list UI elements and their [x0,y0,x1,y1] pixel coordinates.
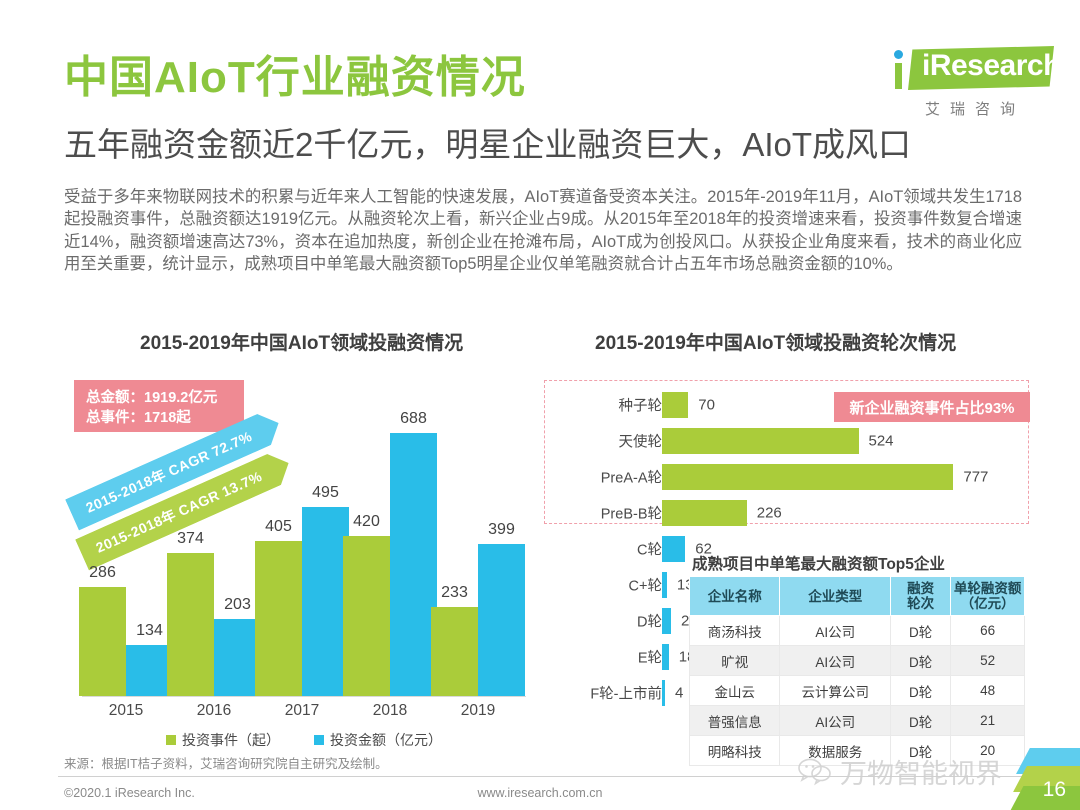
right-chart-title: 2015-2019年中国AIoT领域投融资轮次情况 [595,328,956,355]
round-label-D轮: D轮 [637,611,662,632]
bar-value-label: 399 [488,521,515,539]
legend-swatch-blue-icon [314,735,324,745]
legend-label-events: 投资事件（起） [182,730,280,750]
right-panel: 新企业融资事件占比93% 种子轮70天使轮524PreA-A轮777PreB-B… [534,366,1034,746]
x-axis-label-2017: 2017 [285,702,319,720]
table-col-header: 企业类型 [780,577,891,616]
x-axis-label-2016: 2016 [197,702,231,720]
bar-2019-amount: 399 [478,544,525,696]
legend-label-amount: 投资金额（亿元） [330,730,442,750]
round-label-E轮: E轮 [638,647,662,668]
logo-stem-icon [895,63,902,89]
bar-value-label: 688 [400,410,427,428]
round-label-F轮-上市前: F轮-上市前 [590,683,662,704]
table-col-header: 企业名称 [690,577,780,616]
round-value-F轮-上市前: 4 [675,685,683,702]
table-cell: 旷视 [690,646,780,676]
table-cell: D轮 [890,616,950,646]
bar-value-label: 405 [265,518,292,536]
total-amount-line: 总金额：1919.2亿元 [86,388,244,408]
table-cell: 云计算公司 [780,676,891,706]
page-number: 16 [1043,778,1066,802]
left-bar-chart: 总金额：1919.2亿元 总事件：1718起 2015-2018年 CAGR 7… [64,366,534,746]
logo-wordmark: iResearch [922,49,1061,83]
table-header-row: 企业名称企业类型融资轮次单轮融资额（亿元） [690,577,1025,616]
round-bar-C+轮 [662,572,667,598]
bar-value-label: 420 [353,513,380,531]
table-row: 旷视AI公司D轮52 [690,646,1025,676]
table-col-header: 单轮融资额（亿元） [951,577,1025,616]
legend-swatch-green-icon [166,735,176,745]
table-cell: 21 [951,706,1025,736]
table-cell: D轮 [890,706,950,736]
round-value-种子轮: 70 [698,397,715,414]
bar-value-label: 134 [136,622,163,640]
round-label-PreA-A轮: PreA-A轮 [601,467,662,488]
top5-table-head: 企业名称企业类型融资轮次单轮融资额（亿元） [690,577,1025,616]
wechat-icon [798,758,832,786]
bar-2015-events: 286 [79,587,126,696]
bar-2018-events: 420 [343,536,390,696]
left-chart-title: 2015-2019年中国AIoT领域投融资情况 [140,328,463,355]
bar-group: 233399 [431,544,525,696]
bar-value-label: 203 [224,596,251,614]
logo-mark: iResearch [886,44,1054,92]
bar-group: 405495 [255,507,349,696]
table-cell: 66 [951,616,1025,646]
table-cell: AI公司 [780,616,891,646]
table-cell: AI公司 [780,706,891,736]
table-row: 普强信息AI公司D轮21 [690,706,1025,736]
round-label-种子轮: 种子轮 [619,395,663,416]
round-bar-E轮 [662,644,669,670]
table-cell: 48 [951,676,1025,706]
x-axis-label-2019: 2019 [461,702,495,720]
top5-table-title: 成熟项目中单笔最大融资额Top5企业 [692,552,945,574]
bar-value-label: 233 [441,584,468,602]
bar-2017-amount: 495 [302,507,349,696]
table-cell: D轮 [890,646,950,676]
round-bar-天使轮 [662,428,859,454]
round-bar-D轮 [662,608,671,634]
legend-item-amount: 投资金额（亿元） [314,730,442,750]
round-label-天使轮: 天使轮 [619,431,663,452]
round-label-PreB-B轮: PreB-B轮 [601,503,662,524]
round-value-PreA-A轮: 777 [963,469,988,486]
round-label-C轮: C轮 [637,539,662,560]
bar-2016-events: 374 [167,553,214,696]
bar-value-label: 286 [89,564,116,582]
logo-chinese-name: 艾瑞咨询 [886,98,1054,119]
round-value-PreB-B轮: 226 [757,505,782,522]
x-axis-label-2018: 2018 [373,702,407,720]
round-bar-种子轮 [662,392,688,418]
round-bar-PreA-A轮 [662,464,953,490]
logo-dot-icon [894,50,903,59]
round-bar-C轮 [662,536,685,562]
legend-item-events: 投资事件（起） [166,730,280,750]
table-row: 金山云云计算公司D轮48 [690,676,1025,706]
funding-round-row: 种子轮70 [544,386,1030,424]
bar-value-label: 374 [177,530,204,548]
top5-table: 企业名称企业类型融资轮次单轮融资额（亿元） 商汤科技AI公司D轮66旷视AI公司… [689,576,1025,766]
table-row: 商汤科技AI公司D轮66 [690,616,1025,646]
table-cell: 金山云 [690,676,780,706]
table-cell: 商汤科技 [690,616,780,646]
bar-value-label: 495 [312,484,339,502]
x-axis-label-2015: 2015 [109,702,143,720]
source-note: 来源：根据IT桔子资料，艾瑞咨询研究院自主研究及绘制。 [64,753,388,772]
bar-group: 286134 [79,587,173,696]
table-col-header: 融资轮次 [890,577,950,616]
left-chart-legend: 投资事件（起） 投资金额（亿元） [82,730,526,750]
x-axis-line [82,696,526,697]
bar-2018-amount: 688 [390,433,437,696]
funding-round-row: 天使轮524 [544,422,1030,460]
left-plot-area: 286134374203405495420688233399 [82,406,522,696]
bar-group: 420688 [343,433,437,696]
body-paragraph: 受益于多年来物联网技术的积累与近年来人工智能的快速发展，AIoT赛道备受资本关注… [64,186,1022,276]
bar-2015-amount: 134 [126,645,173,696]
bar-group: 374203 [167,553,261,696]
round-label-C+轮: C+轮 [629,575,662,596]
round-bar-PreB-B轮 [662,500,747,526]
table-cell: 52 [951,646,1025,676]
page-title: 中国AIoT行业融资情况 [64,54,526,102]
slide-root: 中国AIoT行业融资情况 五年融资金额近2千亿元，明星企业融资巨大，AIoT成风… [0,0,1080,810]
funding-round-row: PreB-B轮226 [544,494,1030,532]
funding-round-row: PreA-A轮777 [544,458,1030,496]
table-cell: AI公司 [780,646,891,676]
page-subtitle: 五年融资金额近2千亿元，明星企业融资巨大，AIoT成风口 [64,126,911,164]
iresearch-logo: iResearch 艾瑞咨询 [886,44,1054,119]
wechat-watermark: 万物智能视界 [798,752,1002,791]
round-bar-F轮-上市前 [662,680,665,706]
round-value-天使轮: 524 [869,433,894,450]
table-cell: D轮 [890,676,950,706]
table-cell: 明略科技 [690,736,780,766]
bar-2017-events: 405 [255,541,302,696]
bar-2016-amount: 203 [214,619,261,696]
top5-table-body: 商汤科技AI公司D轮66旷视AI公司D轮52金山云云计算公司D轮48普强信息AI… [690,616,1025,766]
table-cell: 普强信息 [690,706,780,736]
bar-2019-events: 233 [431,607,478,696]
watermark-text: 万物智能视界 [840,752,1002,791]
